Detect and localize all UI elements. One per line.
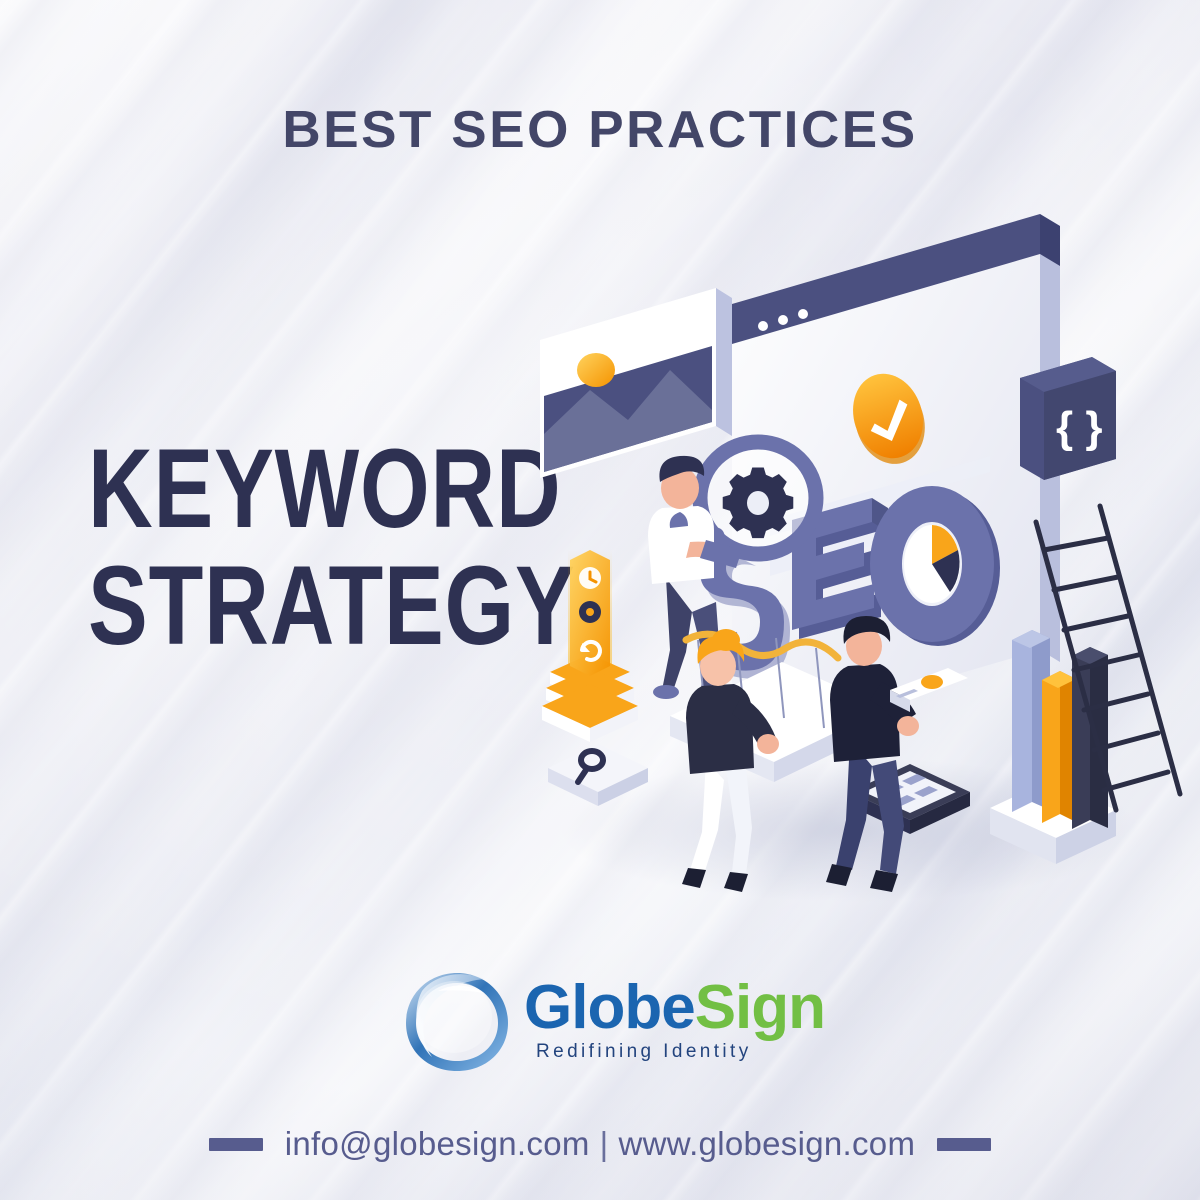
bar-orange <box>1042 671 1076 823</box>
logo-wordmark: GlobeSign Redifining Identity <box>524 977 825 1063</box>
browser-dot <box>778 315 788 325</box>
logo-word-globe: Globe <box>524 973 695 1042</box>
footer-email[interactable]: info@globesign.com <box>285 1125 590 1162</box>
clock-icon <box>579 567 601 589</box>
pie-chart-in-o <box>904 525 960 603</box>
footer-dash-right <box>937 1138 991 1151</box>
gear-icon <box>723 468 794 539</box>
sun-icon <box>577 353 615 387</box>
title-line-1: KEYWORD <box>88 437 576 540</box>
logo-tagline: Redifining Identity <box>536 1041 825 1063</box>
footer-separator: | <box>590 1125 619 1162</box>
brand-logo[interactable]: GlobeSign Redifining Identity <box>398 963 818 1081</box>
logo-word-sign: Sign <box>695 973 825 1042</box>
footer-dash-left <box>209 1138 263 1151</box>
browser-dot <box>798 309 808 319</box>
footer-contact: info@globesign.com|www.globesign.com <box>285 1125 916 1163</box>
seo-illustration: { } <box>520 220 1160 900</box>
code-braces-glyph: { } <box>1056 403 1102 452</box>
footer-bar: info@globesign.com|www.globesign.com <box>0 1113 1200 1175</box>
browser-dot <box>758 321 768 331</box>
page-kicker: BEST SEO PRACTICES <box>0 104 1200 156</box>
globe-swirl-icon <box>398 965 516 1077</box>
logo-word-row: GlobeSign <box>524 977 825 1039</box>
poster-canvas: BEST SEO PRACTICES KEYWORD STRATEGY <box>0 0 1200 1200</box>
gear-icon <box>579 601 601 623</box>
title-line-2: STRATEGY <box>88 554 576 657</box>
code-braces-card: { } <box>1020 357 1116 480</box>
image-card <box>540 288 732 478</box>
orange-icon-tower <box>542 550 638 742</box>
footer-website[interactable]: www.globesign.com <box>619 1125 916 1162</box>
